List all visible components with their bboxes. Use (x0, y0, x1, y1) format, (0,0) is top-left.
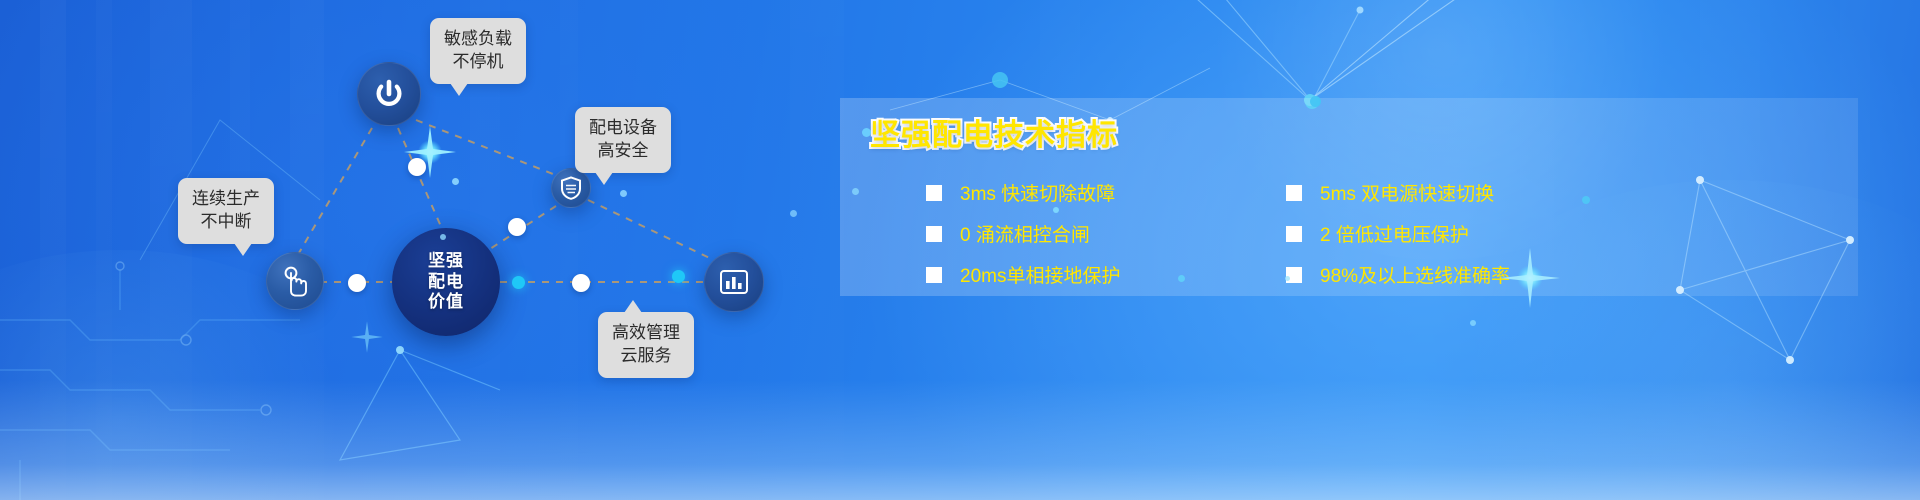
spec-item[interactable]: 0 涌流相控合闸 (926, 213, 1226, 254)
shield-icon (560, 176, 582, 200)
center-node-line-2: 配电 (428, 272, 464, 293)
callout-line-1: 高效管理 (612, 322, 680, 345)
promo-banner: 坚强 配电 价值 敏感负载 不停机 配电设备 高安全 连续生产 不中断 高效管理 (0, 0, 1920, 500)
link-dot-small (440, 234, 446, 240)
bokeh-dot (1178, 275, 1185, 282)
callout-line-1: 配电设备 (589, 117, 657, 140)
callout-line-1: 连续生产 (192, 188, 260, 211)
spec-label: 0 涌流相控合闸 (960, 220, 1090, 247)
bokeh-dot (852, 188, 859, 195)
callout-line-2: 云服务 (612, 345, 680, 368)
panel-title: 坚强配电技术指标 (870, 110, 1118, 154)
value-network-diagram: 坚强 配电 价值 敏感负载 不停机 配电设备 高安全 连续生产 不中断 高效管理 (0, 0, 840, 500)
hand-touch-icon (280, 265, 310, 297)
bullet-square-icon (926, 267, 942, 283)
bullet-square-icon (1286, 185, 1302, 201)
spec-label: 98%及以上选线准确率 (1320, 261, 1510, 288)
spec-item[interactable]: 3ms 快速切除故障 (926, 172, 1226, 213)
node-hand-touch[interactable] (266, 252, 324, 310)
power-button-icon (372, 77, 406, 111)
callout-power-equipment[interactable]: 配电设备 高安全 (575, 107, 671, 173)
spec-label: 5ms 双电源快速切换 (1320, 179, 1494, 206)
bokeh-dot (1582, 196, 1590, 204)
link-dot-small (452, 178, 459, 185)
callout-line-2: 不中断 (192, 211, 260, 234)
center-node-line-1: 坚强 (428, 251, 464, 272)
spec-label: 3ms 快速切除故障 (960, 179, 1115, 206)
tech-spec-panel: 坚强配电技术指标 3ms 快速切除故障 5ms 双电源快速切换 0 涌流相控合闸… (840, 98, 1858, 296)
bokeh-dot (1285, 276, 1290, 281)
callout-continuous-production[interactable]: 连续生产 不中断 (178, 178, 274, 244)
node-shield[interactable] (551, 168, 591, 208)
callout-cloud-service[interactable]: 高效管理 云服务 (598, 312, 694, 378)
node-power-button[interactable] (357, 62, 421, 126)
link-dot (572, 274, 590, 292)
center-node-core-value[interactable]: 坚强 配电 价值 (392, 228, 500, 336)
bullet-square-icon (926, 185, 942, 201)
spec-label: 2 倍低过电压保护 (1320, 220, 1469, 247)
callout-line-2: 不停机 (444, 51, 512, 74)
link-dot (408, 158, 426, 176)
link-dot (348, 274, 366, 292)
link-dot-active (672, 270, 685, 283)
link-dot-small (620, 190, 627, 197)
bokeh-dot (1053, 207, 1059, 213)
callout-sensitive-load[interactable]: 敏感负载 不停机 (430, 18, 526, 84)
center-node-line-3: 价值 (428, 292, 464, 313)
spec-item[interactable]: 98%及以上选线准确率 (1286, 254, 1586, 295)
callout-line-1: 敏感负载 (444, 28, 512, 51)
spec-list: 3ms 快速切除故障 5ms 双电源快速切换 0 涌流相控合闸 2 倍低过电压保… (926, 172, 1806, 295)
node-bar-chart[interactable] (704, 252, 764, 312)
bullet-square-icon (926, 226, 942, 242)
bokeh-dot (1310, 96, 1321, 107)
spec-label: 20ms单相接地保护 (960, 261, 1120, 288)
link-dot (508, 218, 526, 236)
spec-item[interactable]: 5ms 双电源快速切换 (1286, 172, 1586, 213)
callout-line-2: 高安全 (589, 140, 657, 163)
bullet-square-icon (1286, 226, 1302, 242)
spec-item[interactable]: 2 倍低过电压保护 (1286, 213, 1586, 254)
link-dot-active (512, 276, 525, 289)
bokeh-dot (862, 128, 871, 137)
bar-chart-icon (719, 268, 749, 296)
bokeh-dot (1470, 320, 1476, 326)
link-dot-small (790, 210, 797, 217)
